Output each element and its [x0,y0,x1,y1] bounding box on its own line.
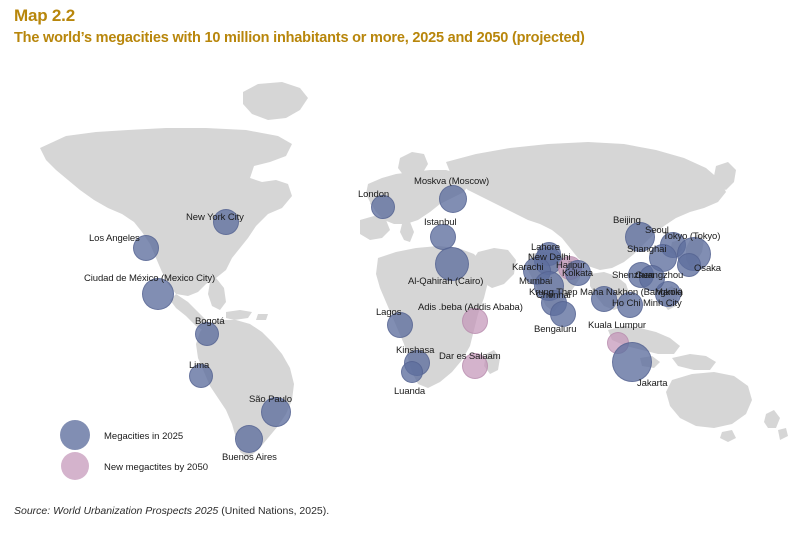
city-label: Kolkata [562,268,593,279]
legend: Megacities in 2025New megactites by 2050 [60,420,320,482]
megacity-bubble[interactable] [401,361,423,383]
legend-swatch-2050 [61,452,89,480]
legend-item[interactable]: Megacities in 2025 [60,420,320,450]
city-label: Kinshasa [396,345,434,356]
figure-header: Map 2.2 The world’s megacities with 10 m… [14,6,794,48]
page-title: The world’s megacities with 10 million i… [14,29,794,48]
world-map: Los AngelesNew York CityCiudad de México… [0,62,800,482]
city-label: Istanbul [424,217,456,228]
map-figure: Map 2.2 The world’s megacities with 10 m… [0,0,800,537]
legend-item[interactable]: New megactites by 2050 [60,450,320,480]
city-label: Ho Chi Minh City [612,298,682,309]
source-note: Source: World Urbanization Prospects 202… [14,505,329,517]
city-label: Bengaluru [534,324,576,335]
city-label: London [358,189,389,200]
megacity-bubble[interactable] [439,185,467,213]
city-label: Kuala Lumpur [588,320,646,331]
city-label: São Paulo [249,394,292,405]
city-label: New York City [186,212,244,223]
city-label: Karachi [512,262,544,273]
city-label: Ciudad de México (Mexico City) [84,273,215,284]
city-label: Jakarta [637,378,667,389]
city-label: Dar es Salaam [439,351,501,362]
city-label: Los Angeles [89,233,140,244]
city-label: Luanda [394,386,425,397]
city-label: Adis .beba (Addis Ababa) [418,302,523,313]
legend-swatch-2025 [60,420,90,450]
city-label: Mumbai [519,276,552,287]
city-label: Lagos [376,307,401,318]
city-label: Bogotá [195,316,225,327]
city-label: Shanghai [627,244,666,255]
megacity-bubble[interactable] [612,342,652,382]
source-plain: (United Nations, 2025). [218,505,329,517]
city-label: Osaka [694,263,721,274]
city-label: Lima [189,360,209,371]
source-italic: Source: World Urbanization Prospects 202… [14,505,218,517]
city-label: Tokyo (Tokyo) [663,231,720,242]
city-label: Guangzhou [635,270,683,281]
city-label: Beijing [613,215,641,226]
city-label: Manila [655,287,682,298]
legend-label: New megactites by 2050 [104,462,208,473]
map-number: Map 2.2 [14,6,794,26]
city-label: Al-Qahirah (Cairo) [408,276,483,287]
city-label: Moskva (Moscow) [414,176,489,187]
legend-label: Megacities in 2025 [104,431,183,442]
